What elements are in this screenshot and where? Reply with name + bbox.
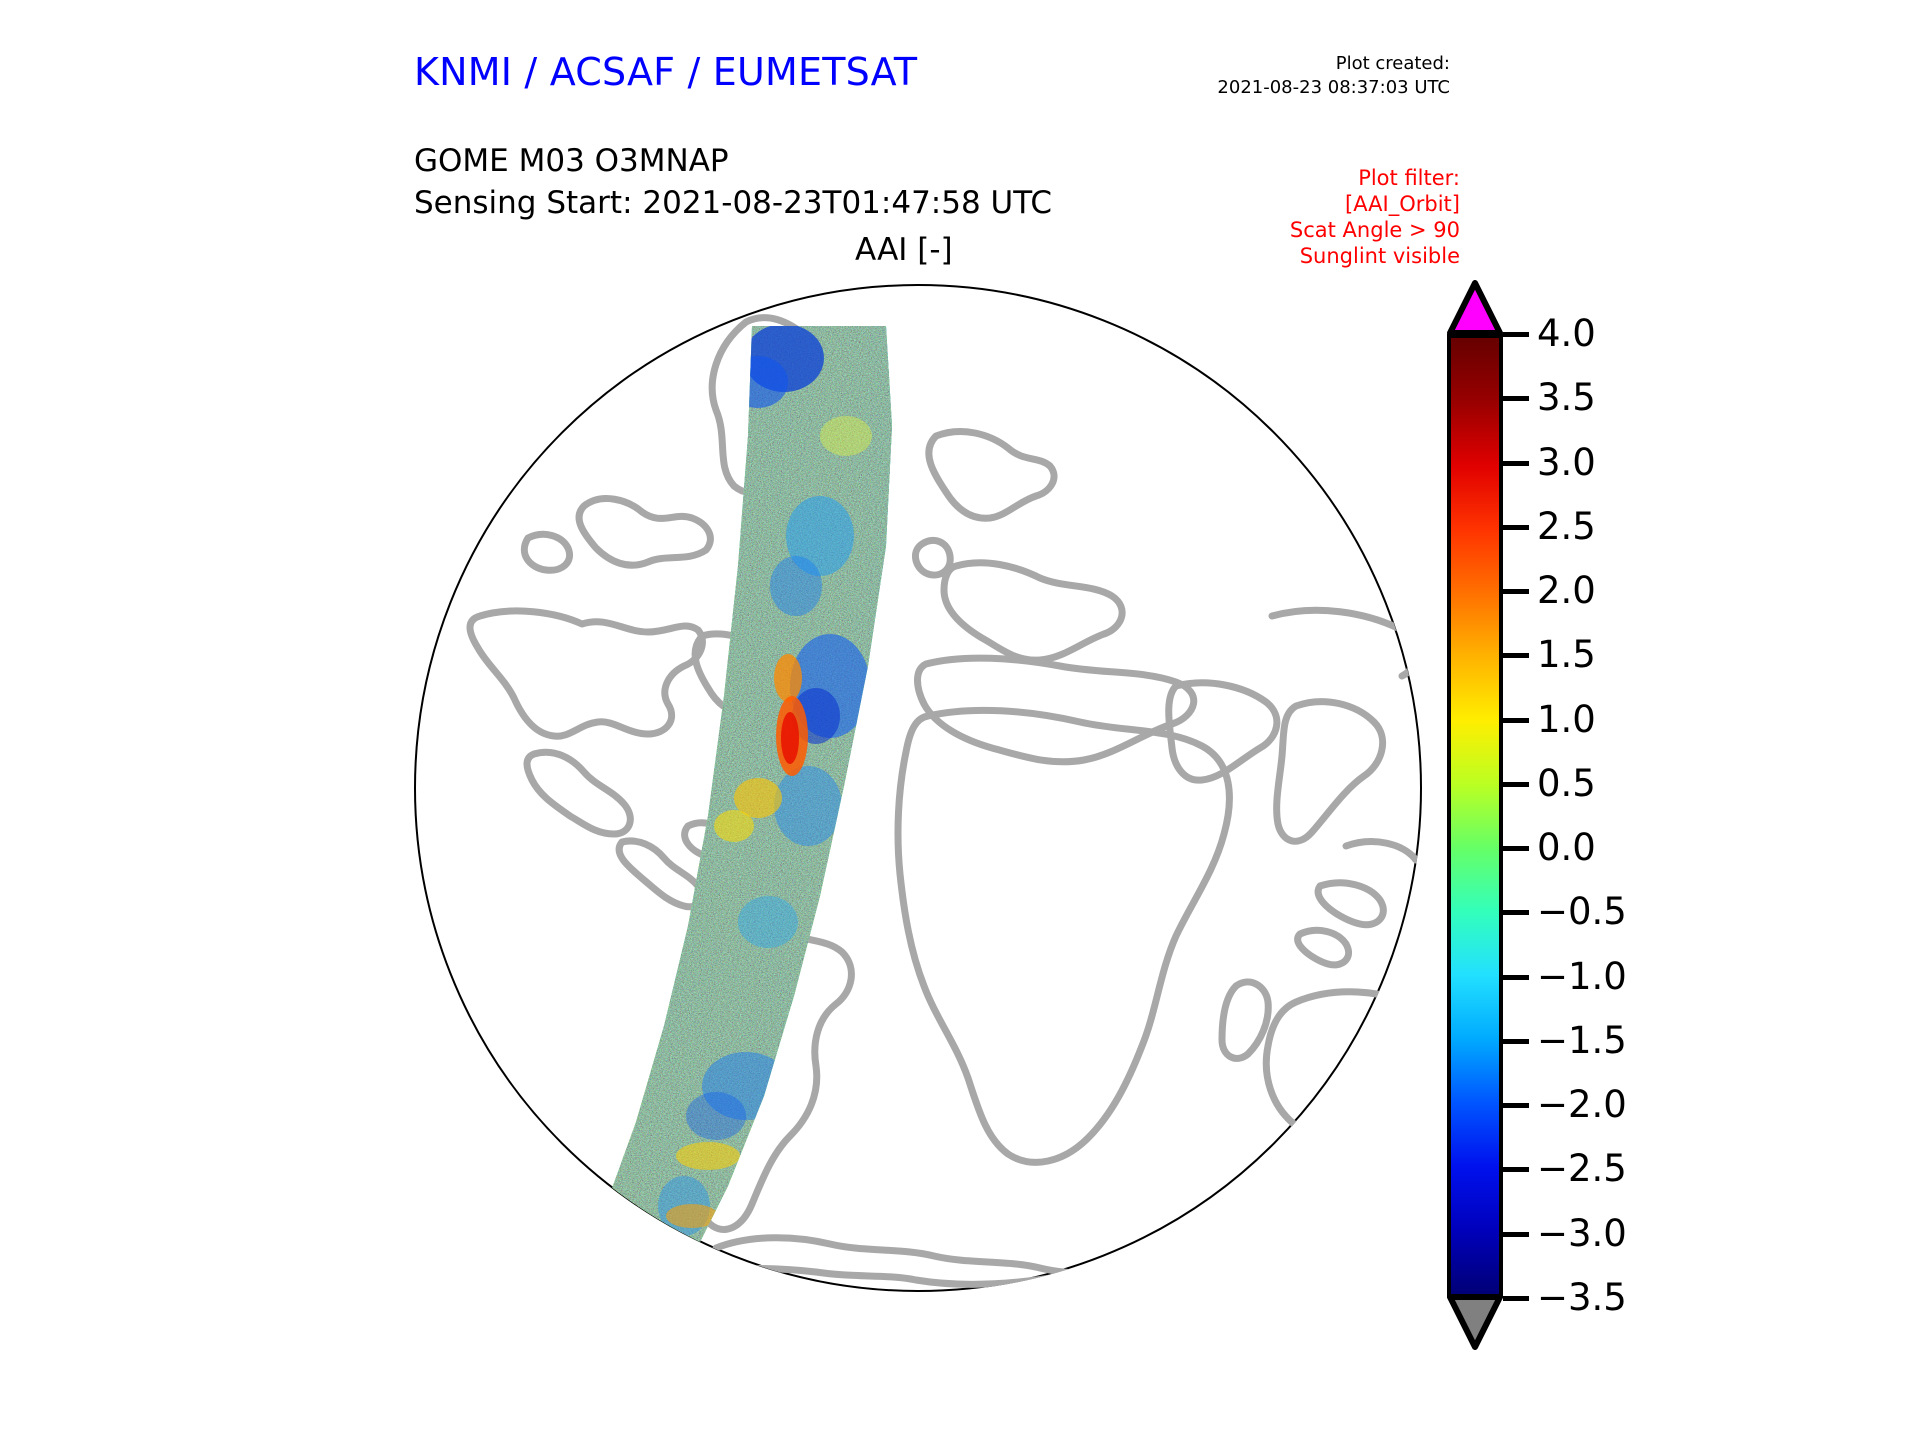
colorbar-tick-label: 4.0 xyxy=(1537,315,1596,352)
colorbar-tick xyxy=(1503,975,1529,980)
plot-created-value: 2021-08-23 08:37:03 UTC xyxy=(1120,76,1450,100)
colorbar-tick-label: 2.0 xyxy=(1537,572,1596,609)
plot-created-label: Plot created: xyxy=(1120,52,1450,76)
colorbar-ticks: 4.03.53.02.52.01.51.00.50.0−0.5−1.0−1.5−… xyxy=(1437,288,1797,1358)
colorbar-tick xyxy=(1503,1296,1529,1301)
quantity-title: AAI [-] xyxy=(855,232,953,268)
colorbar-tick-label: 0.5 xyxy=(1537,765,1596,802)
colorbar-tick xyxy=(1503,1039,1529,1044)
colorbar-tick-label: −3.0 xyxy=(1537,1215,1627,1252)
colorbar-tick xyxy=(1503,525,1529,530)
colorbar-tick xyxy=(1503,461,1529,466)
colorbar-tick-label: 3.0 xyxy=(1537,444,1596,481)
plot-filter-label: Plot filter: xyxy=(1150,165,1460,191)
sensing-start: Sensing Start: 2021-08-23T01:47:58 UTC xyxy=(414,182,1052,224)
colorbar-tick-label: 3.5 xyxy=(1537,379,1596,416)
colorbar-tick-label: −3.5 xyxy=(1537,1279,1627,1316)
colorbar: 4.03.53.02.52.01.51.00.50.0−0.5−1.0−1.5−… xyxy=(1437,288,1797,1358)
colorbar-tick xyxy=(1503,1103,1529,1108)
colorbar-tick-label: −2.5 xyxy=(1537,1150,1627,1187)
colorbar-tick xyxy=(1503,589,1529,594)
colorbar-tick xyxy=(1503,653,1529,658)
colorbar-tick xyxy=(1503,846,1529,851)
colorbar-tick xyxy=(1503,910,1529,915)
plot-filter-name: [AAI_Orbit] xyxy=(1150,191,1460,217)
colorbar-tick-label: 1.5 xyxy=(1537,636,1596,673)
colorbar-tick xyxy=(1503,396,1529,401)
colorbar-tick xyxy=(1503,332,1529,337)
colorbar-tick-label: −1.0 xyxy=(1537,958,1627,995)
plot-filter-block: Plot filter: [AAI_Orbit] Scat Angle > 90… xyxy=(1150,165,1460,269)
colorbar-tick-label: 2.5 xyxy=(1537,508,1596,545)
colorbar-tick-label: −0.5 xyxy=(1537,893,1627,930)
plot-created-block: Plot created: 2021-08-23 08:37:03 UTC xyxy=(1120,52,1450,100)
colorbar-tick xyxy=(1503,1232,1529,1237)
globe-map xyxy=(414,284,1426,1296)
dataset-name: GOME M03 O3MNAP xyxy=(414,140,1052,182)
globe-clip xyxy=(416,286,1422,1292)
colorbar-tick-label: 1.0 xyxy=(1537,701,1596,738)
colorbar-tick-label: −1.5 xyxy=(1537,1022,1627,1059)
colorbar-tick xyxy=(1503,1167,1529,1172)
plot-filter-scat-angle: Scat Angle > 90 xyxy=(1150,217,1460,243)
colorbar-tick xyxy=(1503,718,1529,723)
colorbar-tick-label: 0.0 xyxy=(1537,829,1596,866)
colorbar-tick xyxy=(1503,782,1529,787)
plot-filter-sunglint: Sunglint visible xyxy=(1150,243,1460,269)
organisation-title: KNMI / ACSAF / EUMETSAT xyxy=(414,50,917,94)
swath-data-layer xyxy=(416,286,1422,1292)
colorbar-tick-label: −2.0 xyxy=(1537,1086,1627,1123)
dataset-info-block: GOME M03 O3MNAP Sensing Start: 2021-08-2… xyxy=(414,140,1052,224)
